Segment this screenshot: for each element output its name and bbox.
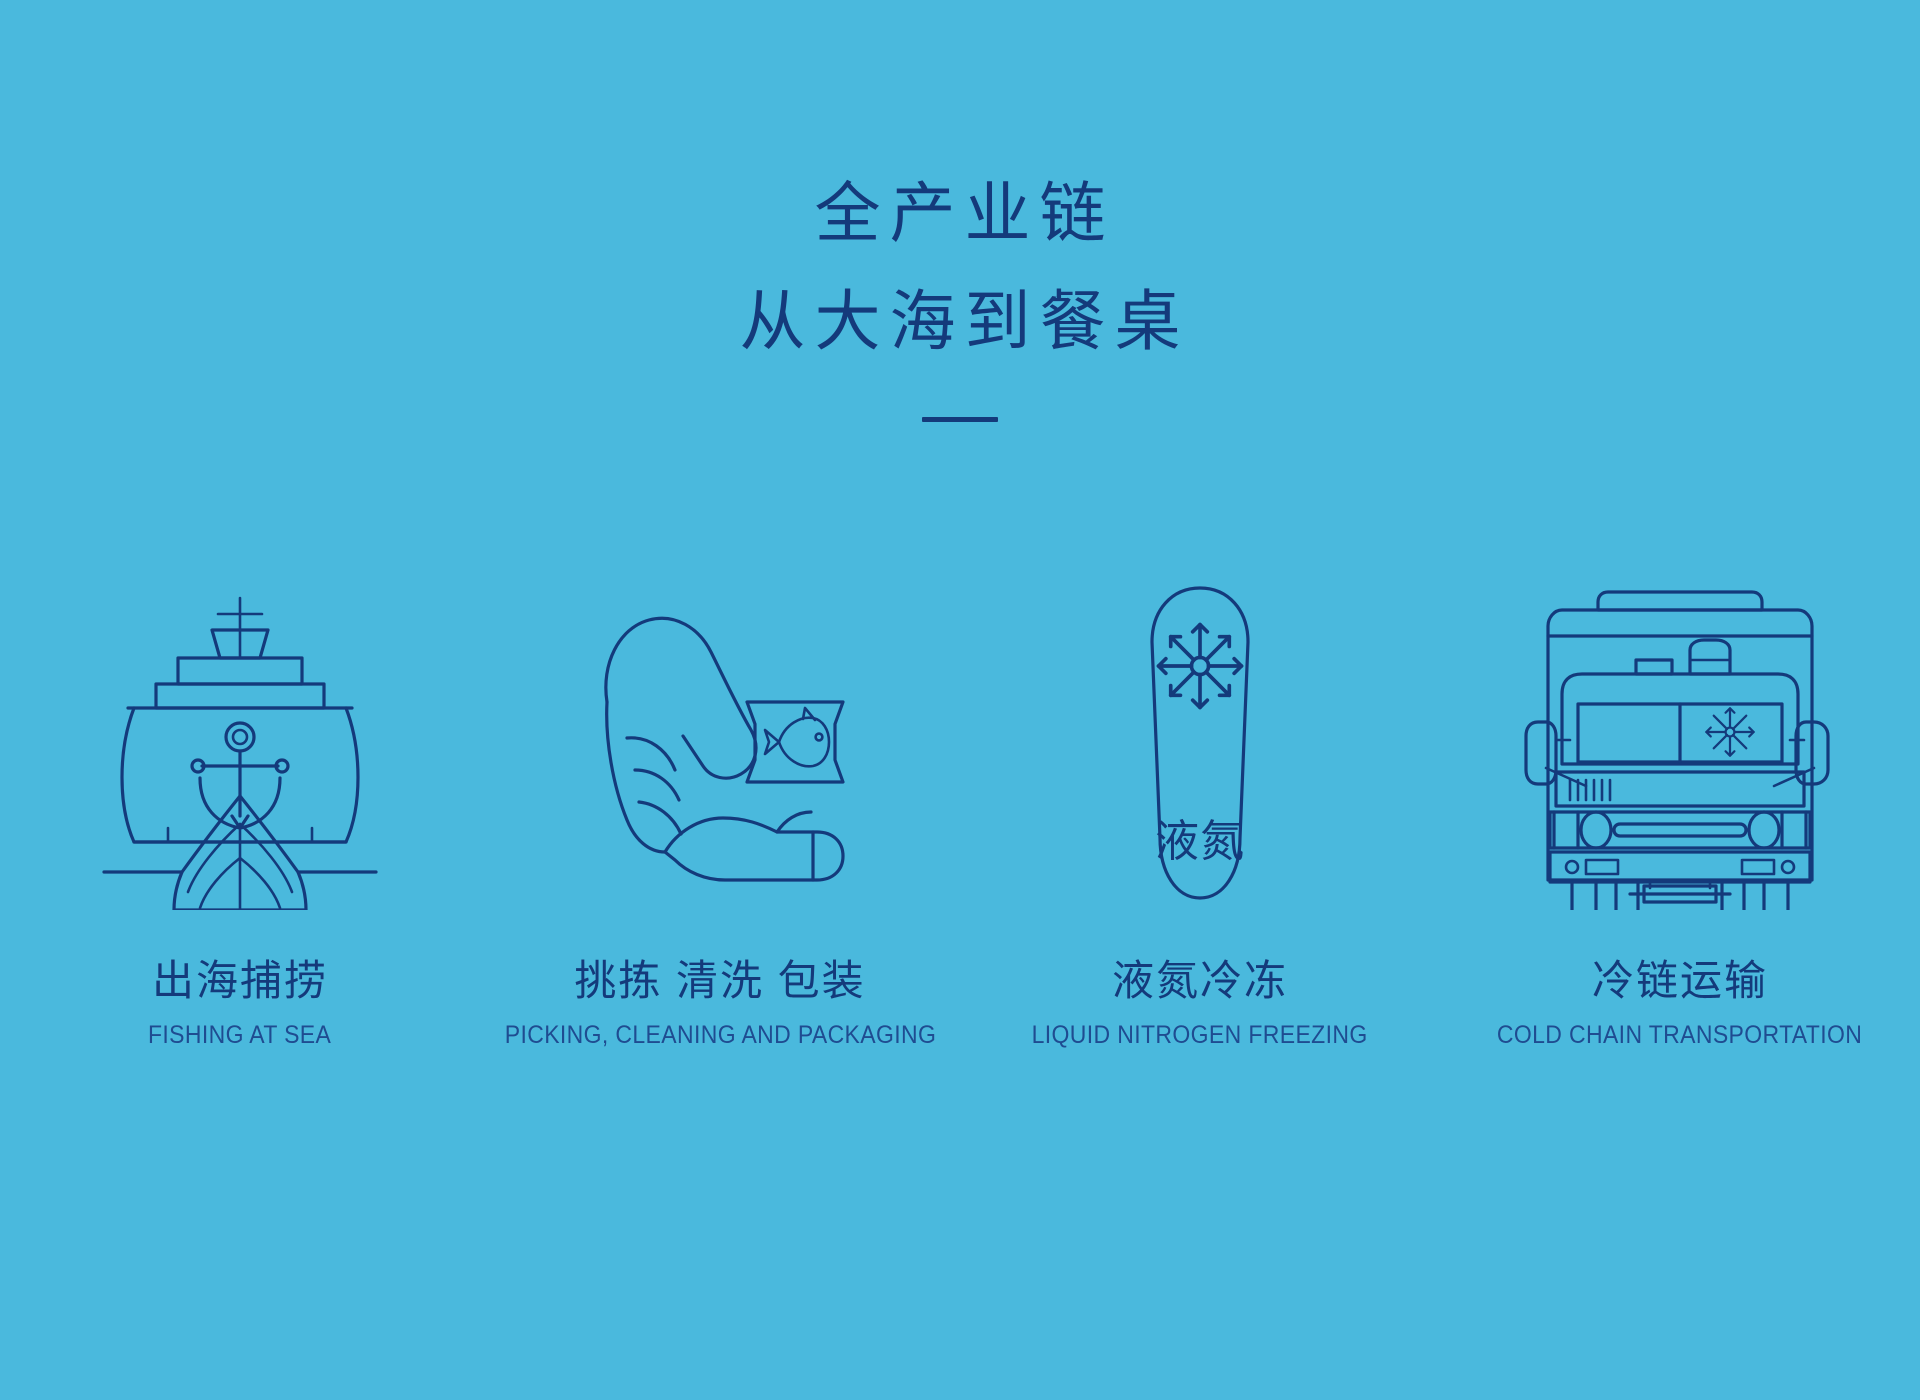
step-liquid-nitrogen-freezing[interactable]: 液氮 液氮冷冻 LIQUID NITROGEN FREEZING [960,520,1440,1050]
step-icon-box [565,520,875,910]
step-labels: 冷链运输 COLD CHAIN TRANSPORTATION [1481,956,1878,1050]
step-labels: 液氮冷冻 LIQUID NITROGEN FREEZING [1017,956,1382,1050]
snowflake-icon [1706,708,1753,755]
process-steps: 出海捕捞 FISHING AT SEA [0,520,1920,1050]
step-label-en: PICKING, CLEANING AND PACKAGING [504,1020,935,1050]
page-root: 全产业链 从大海到餐桌 [0,0,1920,1400]
liquid-nitrogen-tank-icon: 液氮 [1110,580,1290,910]
tank-text: 液氮 [1155,817,1245,866]
step-picking-cleaning-packaging[interactable]: 挑拣 清洗 包装 PICKING, CLEANING AND PACKAGING [480,520,960,1050]
step-label-en: FISHING AT SEA [148,1020,331,1050]
refrigerated-truck-icon [1520,580,1840,910]
page-title-line-2: 从大海到餐桌 [0,276,1920,370]
page-title-line-1: 全产业链 [0,168,1920,262]
step-fishing-at-sea[interactable]: 出海捕捞 FISHING AT SEA [0,520,480,1050]
step-label-cn: 液氮冷冻 [1017,956,1382,1006]
step-labels: 出海捕捞 FISHING AT SEA [140,956,339,1050]
snowflake-icon [1159,625,1242,708]
hands-with-packaged-fish-icon [565,580,875,910]
step-icon-box: 液氮 [1110,520,1290,910]
step-label-cn: 挑拣 清洗 包装 [486,956,955,1006]
fishing-boat-icon [90,580,390,910]
page-header: 全产业链 从大海到餐桌 [0,0,1920,422]
step-labels: 挑拣 清洗 包装 PICKING, CLEANING AND PACKAGING [486,956,955,1050]
step-cold-chain-transportation[interactable]: 冷链运输 COLD CHAIN TRANSPORTATION [1440,520,1920,1050]
grille-slats [1570,780,1610,800]
step-label-en: LIQUID NITROGEN FREEZING [1032,1020,1368,1050]
step-label-en: COLD CHAIN TRANSPORTATION [1497,1020,1862,1050]
title-divider-wrap [0,417,1920,422]
step-label-cn: 冷链运输 [1481,956,1878,1006]
step-label-cn: 出海捕捞 [140,956,339,1006]
step-icon-box [1520,520,1840,910]
step-icon-box [90,520,390,910]
title-divider [922,417,998,422]
